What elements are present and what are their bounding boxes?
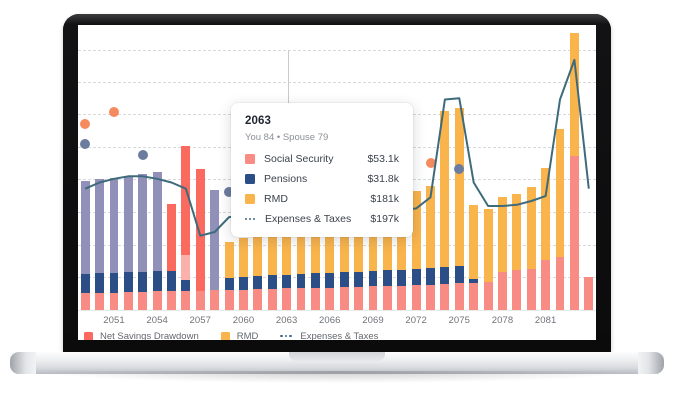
legend-item[interactable]: RMD (221, 331, 259, 341)
x-axis-tick: 2069 (362, 315, 384, 326)
x-axis-tick: 2057 (190, 315, 212, 326)
x-axis-tick: 2081 (535, 315, 557, 326)
tooltip-row-value: $31.8k (367, 173, 399, 185)
tooltip-row: Pensions$31.8k (245, 173, 399, 185)
laptop-base-left-edge (10, 352, 36, 374)
tooltip-row: RMD$181k (245, 193, 399, 205)
color-swatch-icon (245, 174, 255, 184)
tooltip-ages-subtitle: You 84 • Spouse 79 (245, 132, 399, 143)
chart-legend[interactable]: Net Savings DrawdownRMDExpenses & Taxes (78, 328, 596, 340)
x-axis-tick: 2075 (449, 315, 471, 326)
color-swatch-icon (221, 332, 230, 341)
x-axis-tick: 2066 (319, 315, 341, 326)
x-axis-tick: 2060 (233, 315, 255, 326)
retirement-cashflow-chart: 2051205420572060206320662069207220752078… (78, 25, 596, 340)
legend-item-label: RMD (237, 331, 259, 341)
tooltip-row-label: RMD (264, 193, 288, 205)
x-axis-tick: 2051 (103, 315, 125, 326)
legend-item-label: Expenses & Taxes (300, 331, 378, 341)
tooltip-row-value: $197k (370, 213, 399, 225)
screenshot-stage: 2051205420572060206320662069207220752078… (0, 0, 674, 410)
color-swatch-icon (245, 194, 255, 204)
tooltip-row-label: Pensions (264, 173, 307, 185)
tooltip-row-value: $53.1k (367, 153, 399, 165)
laptop-drop-shadow (40, 371, 634, 383)
x-axis-tick: 2072 (405, 315, 427, 326)
laptop-screen: 2051205420572060206320662069207220752078… (78, 25, 596, 340)
laptop-base-notch (289, 352, 385, 361)
legend-item[interactable]: Expenses & Taxes (280, 331, 378, 341)
tooltip-row-label: Expenses & Taxes (265, 213, 351, 225)
legend-item[interactable]: Net Savings Drawdown (84, 331, 199, 341)
x-axis-tick: 2078 (492, 315, 514, 326)
x-axis-tick: 2054 (146, 315, 168, 326)
tooltip-row-label: Social Security (264, 153, 333, 165)
tooltip-year: 2063 (245, 115, 399, 127)
tooltip-row: Social Security$53.1k (245, 153, 399, 165)
laptop-base-right-edge (638, 352, 664, 374)
legend-item-label: Net Savings Drawdown (100, 331, 199, 341)
dotted-line-icon (245, 214, 256, 224)
x-axis-baseline (78, 310, 596, 311)
x-axis-tick: 2063 (276, 315, 298, 326)
chart-tooltip: 2063 You 84 • Spouse 79 Social Security$… (231, 103, 413, 237)
tooltip-row: Expenses & Taxes$197k (245, 213, 399, 225)
dotted-line-icon (280, 332, 293, 341)
tooltip-row-value: $181k (370, 193, 399, 205)
color-swatch-icon (84, 332, 93, 341)
color-swatch-icon (245, 154, 255, 164)
tooltip-rows: Social Security$53.1kPensions$31.8kRMD$1… (245, 153, 399, 225)
